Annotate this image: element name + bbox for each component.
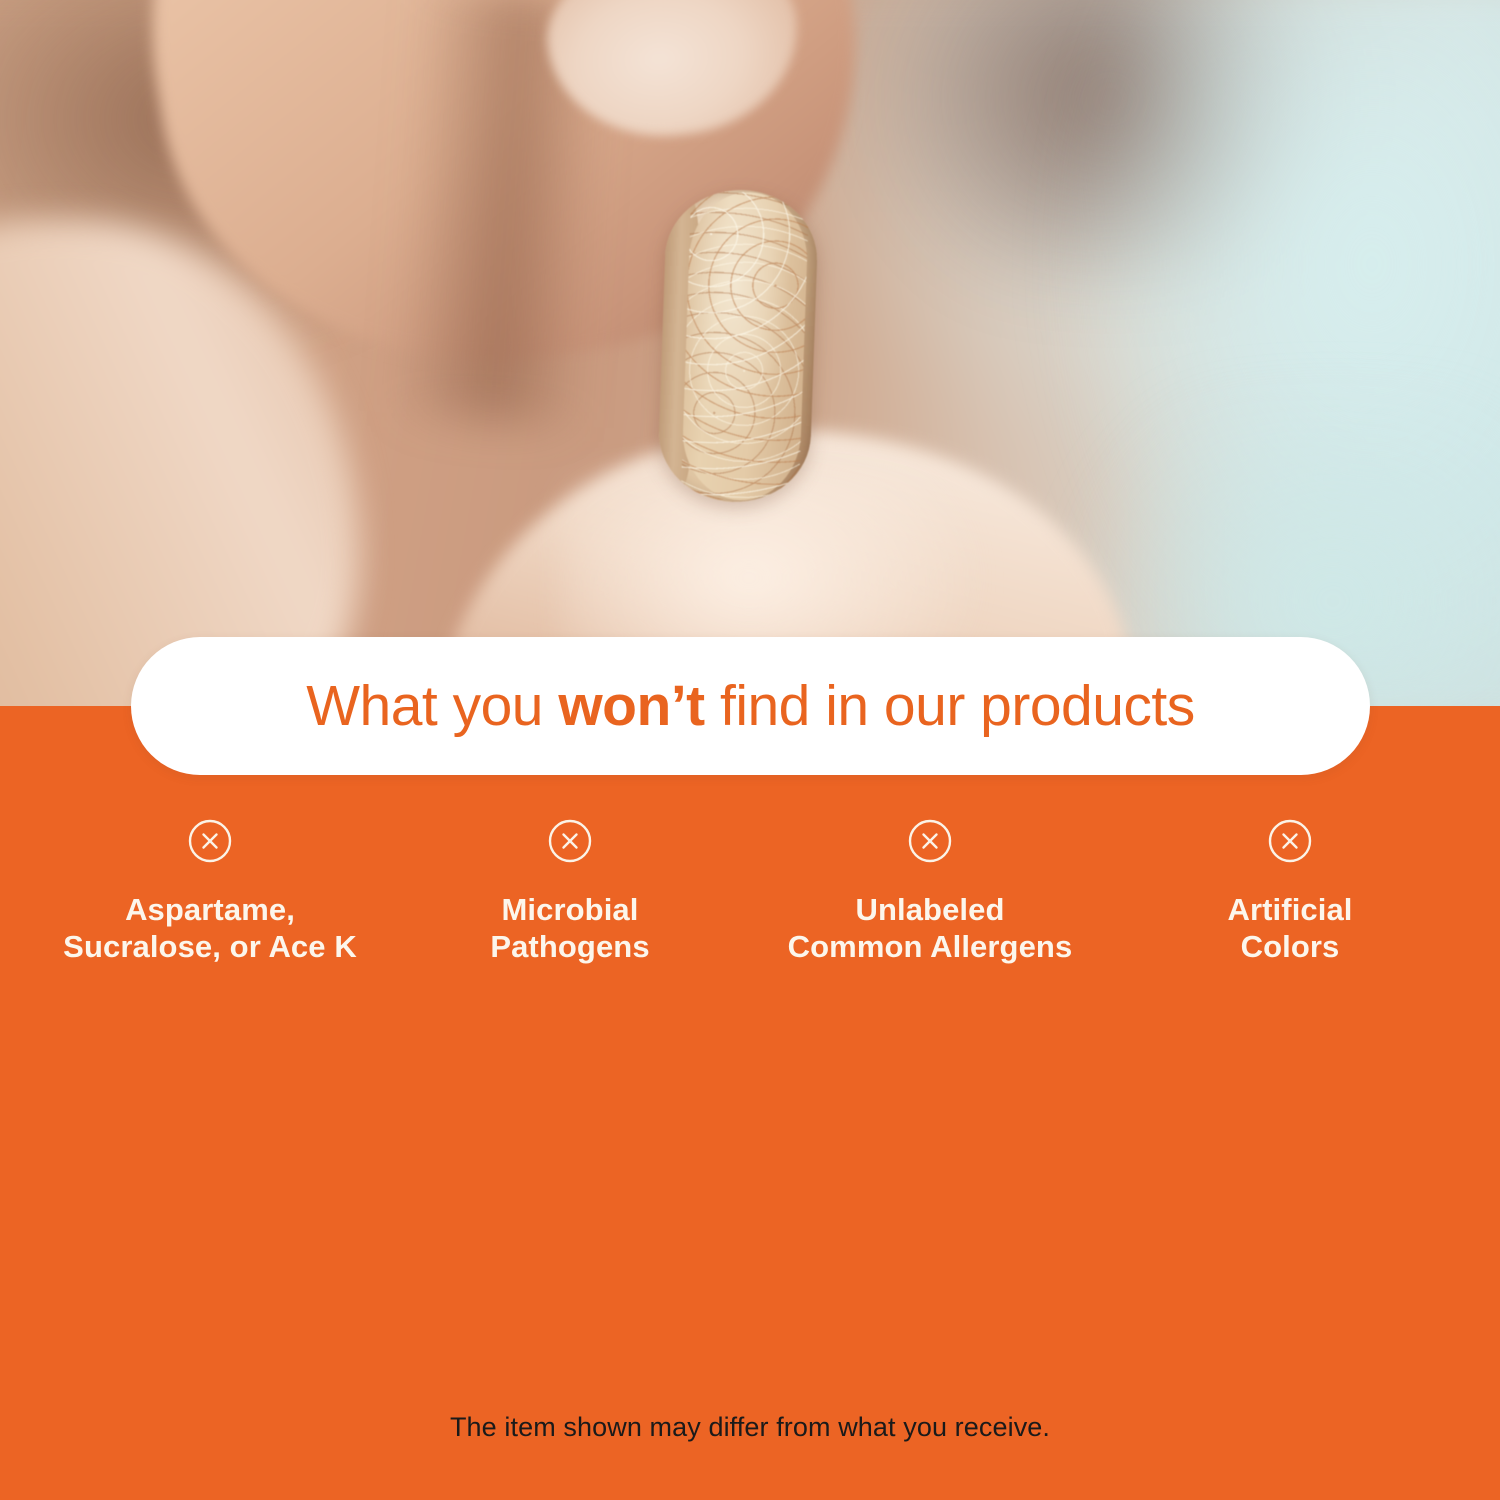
page-title-prefix: What you <box>306 674 558 738</box>
disclaimer-text: The item shown may differ from what you … <box>0 1412 1500 1443</box>
exclusion-label: Artificial Colors <box>1227 892 1352 965</box>
title-banner: What you won’t find in our products <box>131 637 1370 775</box>
page-title-suffix: find in our products <box>705 674 1195 738</box>
exclusion-item: Hydrogenated Oils <box>1470 818 1500 994</box>
circle-x-icon <box>907 818 953 864</box>
page-title: What you won’t find in our products <box>306 678 1195 735</box>
exclusions-grid: Aspartame, Sucralose, or Ace K Microbial… <box>30 818 1470 1008</box>
circle-x-icon <box>187 818 233 864</box>
product-infographic: What you won’t find in our products Aspa… <box>0 0 1500 1500</box>
exclusion-item: Microbial Pathogens <box>390 818 750 1000</box>
exclusion-item: Unlabeled Common Allergens <box>750 818 1110 1000</box>
page-title-emphasis: won’t <box>558 674 704 738</box>
supplement-tablet <box>657 187 820 504</box>
tablet-face <box>681 190 810 502</box>
exclusion-label: Aspartame, Sucralose, or Ace K <box>63 892 357 965</box>
exclusions-row: Hydrogenated Oils Parabens MSG <box>1470 818 1500 1008</box>
exclusion-item: Artificial Colors <box>1110 818 1470 1000</box>
product-photo <box>0 0 1500 712</box>
exclusion-label: Microbial Pathogens <box>490 892 649 965</box>
circle-x-icon <box>547 818 593 864</box>
exclusion-label: Unlabeled Common Allergens <box>788 892 1073 965</box>
exclusion-item: Aspartame, Sucralose, or Ace K <box>30 818 390 1000</box>
circle-x-icon <box>1267 818 1313 864</box>
tablet-speckles-fine <box>681 190 810 502</box>
exclusions-row: Aspartame, Sucralose, or Ace K Microbial… <box>30 818 1470 1008</box>
